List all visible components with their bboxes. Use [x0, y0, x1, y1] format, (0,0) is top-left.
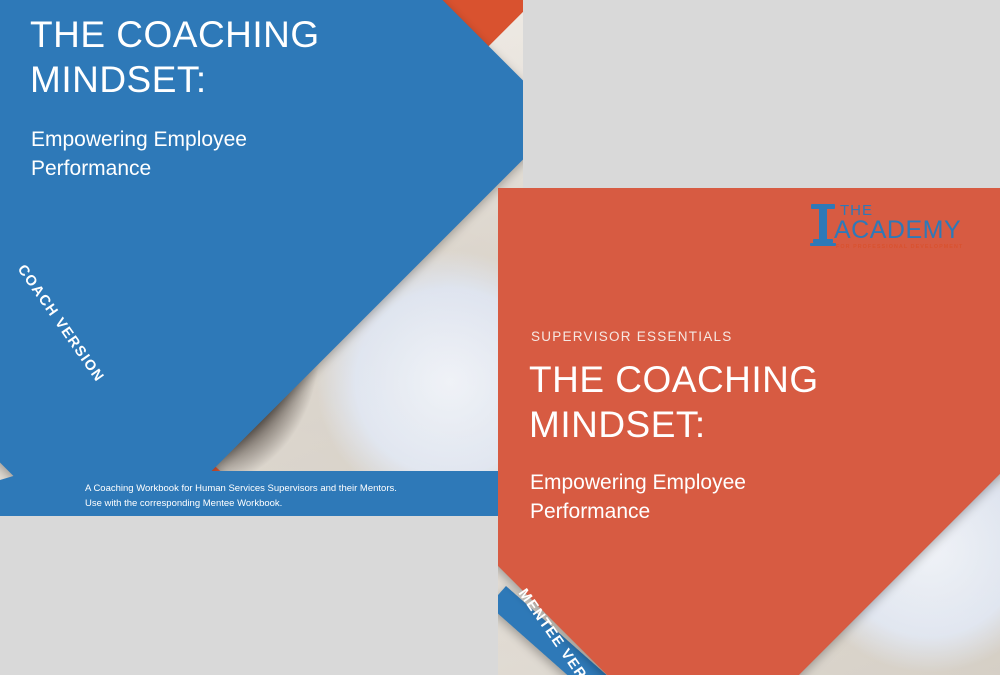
coach-subhead: Empowering Employee Performance: [31, 126, 361, 184]
coach-version-cover[interactable]: THE COACHING MINDSET: Empowering Employe…: [0, 0, 523, 516]
mentee-headline: THE COACHING MINDSET:: [529, 357, 959, 447]
academy-logo-tagline: FOR PROFESSIONAL DEVELOPMENT: [836, 244, 963, 250]
mentee-eyebrow-text: SUPERVISOR ESSENTIALS: [531, 329, 733, 344]
covers-stage: THE COACHING MINDSET: Empowering Employe…: [0, 0, 1000, 675]
mentee-subhead: Empowering Employee Performance: [530, 469, 870, 527]
coach-headline: THE COACHING MINDSET:: [30, 12, 450, 102]
coach-footer-text: A Coaching Workbook for Human Services S…: [85, 482, 485, 511]
pillar-icon: [810, 204, 836, 246]
mentee-version-cover[interactable]: THE ACADEMY FOR PROFESSIONAL DEVELOPMENT…: [498, 188, 1000, 675]
academy-logo: THE ACADEMY FOR PROFESSIONAL DEVELOPMENT: [808, 200, 958, 256]
academy-logo-line-two: ACADEMY: [834, 216, 961, 245]
